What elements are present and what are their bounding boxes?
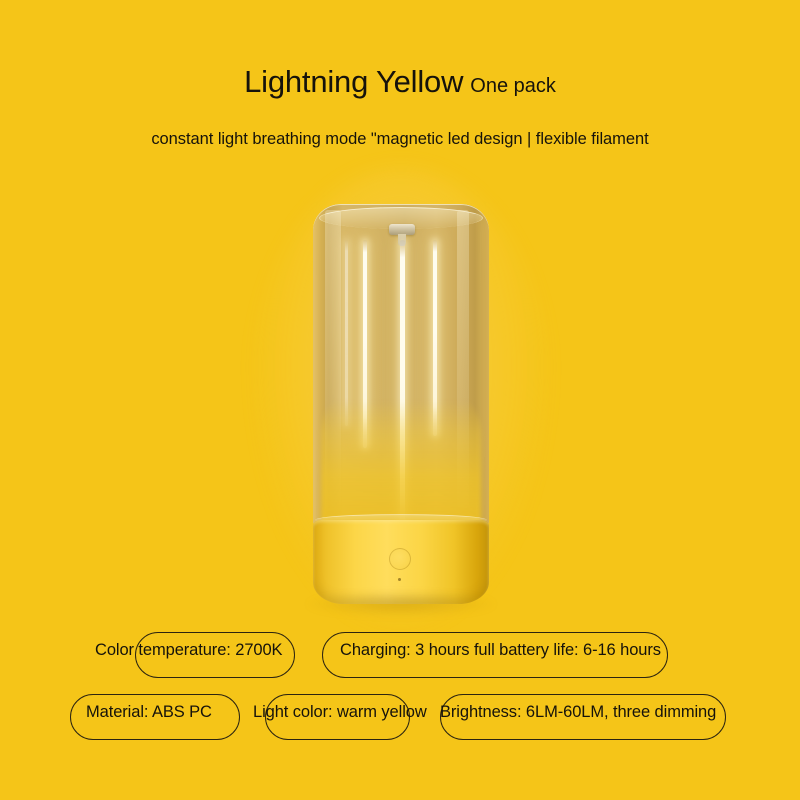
product-title: Lightning Yellow bbox=[244, 64, 463, 99]
indicator-dot-icon bbox=[398, 578, 401, 581]
led-filament-strip bbox=[345, 240, 348, 426]
spec-label-light-color: Light color: warm yellow bbox=[253, 703, 427, 722]
inner-glow bbox=[321, 400, 481, 526]
page-title: Lightning YellowOne pack bbox=[0, 64, 800, 100]
contact-shadow bbox=[305, 592, 497, 616]
spec-label-charging: Charging: 3 hours full battery life: 6-1… bbox=[340, 641, 661, 660]
power-button-icon bbox=[389, 548, 411, 570]
product-subtitle: constant light breathing mode "magnetic … bbox=[0, 130, 800, 149]
product-photo bbox=[311, 204, 491, 602]
product-image-canvas: Lightning YellowOne pack constant light … bbox=[0, 0, 800, 800]
spec-label-color-temperature: Color temperature: 2700K bbox=[95, 641, 282, 660]
spec-label-brightness: Brightness: 6LM-60LM, three dimming bbox=[440, 703, 716, 722]
pack-label: One pack bbox=[470, 75, 556, 97]
spec-label-material: Material: ABS PC bbox=[86, 703, 212, 722]
